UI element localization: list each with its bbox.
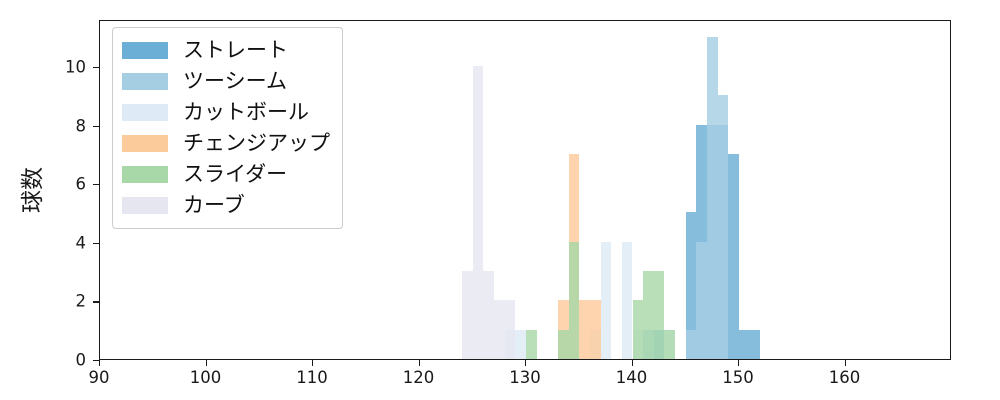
legend-item-label: チェンジアップ	[183, 133, 330, 154]
x-axis-tick-label: 100	[190, 368, 222, 387]
histogram-bar	[728, 154, 739, 359]
y-axis-tick-label: 8	[76, 116, 87, 135]
x-axis-tick	[738, 360, 739, 366]
y-axis-tick-label: 2	[76, 292, 87, 311]
histogram-bar	[686, 330, 697, 359]
legend-item-1[interactable]: ストレート	[122, 35, 330, 66]
histogram-bar	[494, 300, 505, 359]
x-axis-tick-label: 130	[509, 368, 541, 387]
x-axis-tick-label: 140	[616, 368, 648, 387]
x-axis-tick	[845, 360, 846, 366]
legend: ストレートツーシームカットボールチェンジアップスライダーカーブ	[112, 27, 343, 229]
x-axis-tick-label: 150	[722, 368, 754, 387]
legend-item-label: ツーシーム	[183, 71, 287, 92]
y-axis-tick	[93, 360, 99, 361]
x-axis-tick	[312, 360, 313, 366]
legend-item-5[interactable]: スライダー	[122, 159, 330, 190]
legend-item-label: カーブ	[183, 195, 245, 216]
histogram-bar	[707, 37, 718, 359]
histogram-bar	[654, 271, 665, 359]
histogram-bar	[633, 300, 644, 359]
legend-item-2[interactable]: ツーシーム	[122, 66, 330, 97]
histogram-bar	[590, 300, 601, 359]
y-axis-tick-label: 4	[76, 233, 87, 252]
histogram-bar	[622, 242, 633, 359]
histogram-bar	[505, 300, 516, 359]
x-axis-tick	[525, 360, 526, 366]
legend-item-label: カットボール	[183, 102, 309, 123]
legend-item-3[interactable]: カットボール	[122, 97, 330, 128]
legend-item-label: ストレート	[183, 40, 288, 61]
legend-color-swatch	[122, 104, 168, 121]
pitch-velocity-histogram: 球数 901001101201301401501600246810 ストレートツ…	[0, 0, 1000, 400]
histogram-bar	[664, 330, 675, 359]
legend-item-label: スライダー	[183, 164, 287, 185]
histogram-bar	[750, 330, 761, 359]
histogram-bar	[483, 271, 494, 359]
histogram-bar	[462, 271, 473, 359]
legend-item-4[interactable]: チェンジアップ	[122, 128, 330, 159]
x-axis-tick-label: 120	[403, 368, 435, 387]
x-axis-tick	[99, 360, 100, 366]
y-axis-tick-label: 10	[65, 57, 86, 76]
legend-color-swatch	[122, 135, 168, 152]
legend-color-swatch	[122, 166, 168, 183]
legend-color-swatch	[122, 73, 168, 90]
x-axis-tick-label: 90	[89, 368, 110, 387]
histogram-bar	[718, 95, 729, 359]
x-axis-tick-label: 110	[296, 368, 328, 387]
histogram-bar	[739, 330, 750, 359]
histogram-bar	[643, 271, 654, 359]
histogram-bar	[558, 330, 569, 359]
y-axis-tick-label: 0	[76, 351, 87, 370]
x-axis-tick-label: 160	[829, 368, 861, 387]
histogram-bar	[569, 242, 580, 359]
histogram-bar	[515, 330, 526, 359]
x-axis-tick	[206, 360, 207, 366]
y-axis-label: 球数	[13, 167, 47, 213]
histogram-bar	[579, 300, 590, 359]
x-axis-tick	[632, 360, 633, 366]
histogram-bar	[601, 242, 612, 359]
legend-color-swatch	[122, 197, 168, 214]
histogram-bar	[473, 66, 484, 359]
y-axis-tick-label: 6	[76, 175, 87, 194]
x-axis-tick	[419, 360, 420, 366]
histogram-bar	[696, 242, 707, 359]
legend-item-6[interactable]: カーブ	[122, 190, 330, 221]
histogram-bar	[526, 330, 537, 359]
legend-color-swatch	[122, 42, 168, 59]
